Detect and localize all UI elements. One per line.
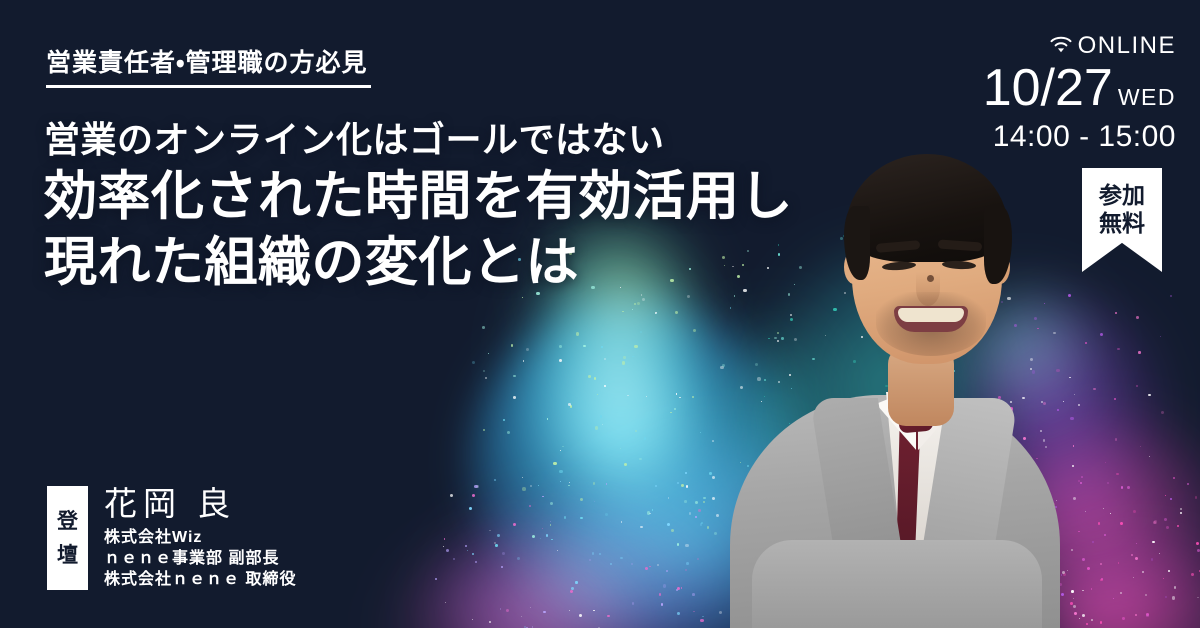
speaker-info: 花岡 良 株式会社Wiz ｎｅｎｅ事業部 副部長 株式会社ｎｅｎｅ 取締役 [104,486,296,590]
speaker-badge-char-1: 登 [57,511,78,532]
portrait-mouth [894,306,968,332]
headline: 営業のオンライン化はゴールではない 効率化された時間を有効活用し 現れた組織の変… [44,116,793,296]
schedule-block: ONLINE 10/27 WED 14:00 - 15:00 [983,33,1176,155]
ribbon-text: 参加 無料 [1099,181,1145,237]
speaker-badge-char-2: 壇 [57,545,78,566]
speaker-affiliation-3: 株式会社ｎｅｎｅ 取締役 [104,569,296,590]
portrait-mole [927,275,934,282]
speaker-badge: 登 壇 [47,486,88,590]
date-row: 10/27 WED [983,61,1176,115]
portrait-teeth [898,308,964,322]
online-row: ONLINE [983,33,1176,59]
online-label: ONLINE [1078,34,1176,58]
ribbon-line-1: 参加 [1099,181,1145,209]
headline-line-2: 効率化された時間を有効活用し [44,164,793,230]
ribbon-line-2: 無料 [1099,209,1145,237]
event-time: 14:00 - 15:00 [983,119,1176,155]
event-date: 10/27 [983,61,1113,115]
eyebrow-underline [46,85,371,88]
speaker-affiliation-1: 株式会社Wiz [104,527,296,548]
splash-blob-violet [430,500,730,628]
free-participation-ribbon: 参加 無料 [1082,168,1162,272]
speaker-name: 花岡 良 [104,486,296,522]
headline-line-3: 現れた組織の変化とは [44,230,793,296]
webinar-banner: 営業責任者・管理職の方必見 営業のオンライン化はゴールではない 効率化された時間… [0,0,1200,628]
portrait-crossed-arms [752,540,1042,628]
event-day-of-week: WED [1118,84,1176,111]
splash-blob-magenta-bottom-left [390,540,640,628]
wifi-icon [1049,34,1073,59]
speaker-block: 登 壇 花岡 良 株式会社Wiz ｎｅｎｅ事業部 副部長 株式会社ｎｅｎｅ 取締… [47,486,296,590]
speaker-affiliation-2: ｎｅｎｅ事業部 副部長 [104,548,296,569]
headline-line-1: 営業のオンライン化はゴールではない [44,116,793,164]
eyebrow-text: 営業責任者・管理職の方必見 [46,43,368,79]
